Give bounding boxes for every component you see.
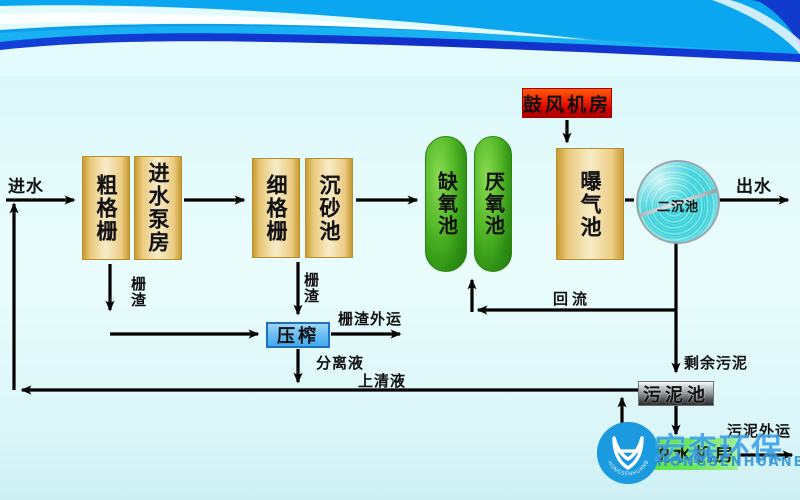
label-separated-liquid: 分离液 <box>316 352 364 373</box>
label-residue-transport: 栅渣外运 <box>338 308 402 329</box>
unit-blower-room[interactable]: 鼓风机房 <box>522 88 612 118</box>
company-logo-icon: HONGSENHUANBAO <box>597 422 659 484</box>
unit-label-secondary-clarifier: 二沉池 <box>638 196 718 215</box>
label-return-flow: 回流 <box>553 288 591 309</box>
unit-label-aeration-tank: 曝气池 <box>579 170 601 239</box>
unit-label-press: 压榨 <box>277 322 319 348</box>
unit-label-blower-room: 鼓风机房 <box>523 90 611 117</box>
unit-grit-chamber[interactable]: 沉砂池 <box>305 158 353 258</box>
unit-label-coarse-screen: 粗格栅 <box>95 174 117 243</box>
label-inlet: 进水 <box>8 172 44 197</box>
label-excess-sludge: 剩余污泥 <box>684 352 748 373</box>
unit-label-anoxic-tank: 缺氧池 <box>436 171 457 237</box>
unit-label-grit-chamber: 沉砂池 <box>318 174 340 243</box>
unit-secondary-clarifier[interactable]: 二沉池 <box>636 160 720 244</box>
unit-label-fine-screen: 细格栅 <box>265 174 287 243</box>
label-screen-residue-1: 栅渣 <box>130 276 145 308</box>
unit-label-dewatering-room: 脱水机房 <box>652 441 736 467</box>
unit-label-inlet-pump-room: 进水泵房 <box>147 162 169 254</box>
label-screen-residue-2: 栅渣 <box>303 272 318 304</box>
unit-sludge-tank[interactable]: 污泥池 <box>638 381 714 406</box>
unit-fine-screen[interactable]: 细格栅 <box>252 158 300 258</box>
unit-anaerobic-tank[interactable]: 厌氧池 <box>474 136 512 272</box>
unit-anoxic-tank[interactable]: 缺氧池 <box>425 136 467 272</box>
unit-inlet-pump-room[interactable]: 进水泵房 <box>134 156 182 260</box>
unit-coarse-screen[interactable]: 粗格栅 <box>82 156 130 260</box>
unit-press[interactable]: 压榨 <box>266 322 330 348</box>
unit-label-anaerobic-tank: 厌氧池 <box>483 171 504 237</box>
label-sludge-transport: 污泥外运 <box>727 420 791 441</box>
unit-dewatering-room[interactable]: 脱水机房 <box>650 438 738 470</box>
unit-aeration-tank[interactable]: 曝气池 <box>556 148 624 260</box>
label-supernatant: 上清液 <box>358 370 406 391</box>
label-outlet: 出水 <box>736 172 772 197</box>
unit-label-sludge-tank: 污泥池 <box>643 381 709 407</box>
diagram-canvas: 粗格栅 进水泵房 细格栅 沉砂池 缺氧池 厌氧池 曝气池 鼓风机房 压榨 污泥池… <box>0 0 800 500</box>
